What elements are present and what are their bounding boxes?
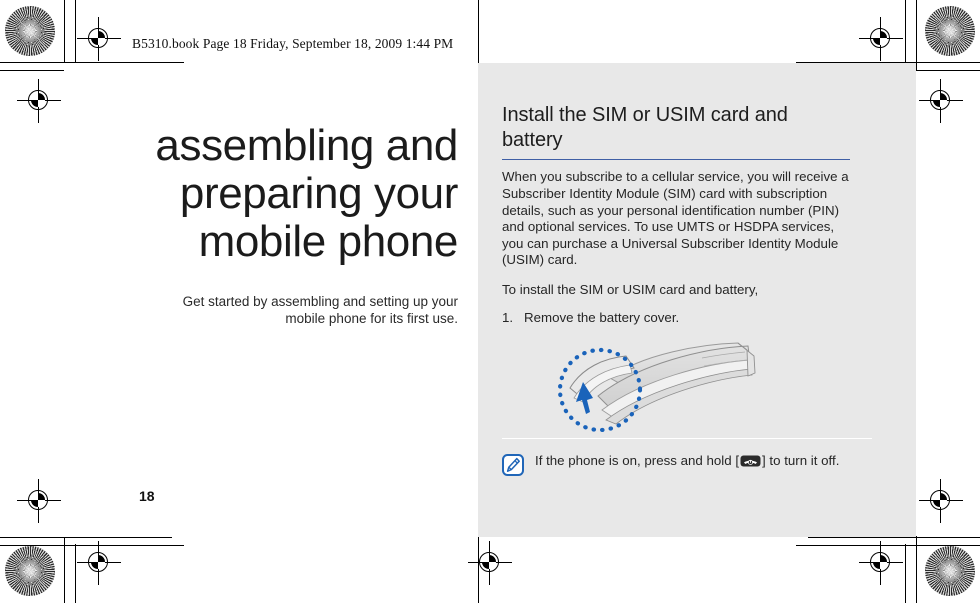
trim-line — [0, 545, 184, 546]
chapter-title-line-1: assembling and — [98, 122, 458, 170]
trim-line — [0, 537, 172, 538]
registration-target-icon — [859, 541, 903, 585]
registration-target-icon — [77, 541, 121, 585]
lead-in-paragraph: To install the SIM or USIM card and batt… — [502, 282, 850, 299]
trim-line — [75, 544, 76, 603]
note-text-after: ] to turn it off. — [762, 453, 839, 468]
registration-target-icon — [919, 479, 963, 523]
registration-target-icon — [919, 79, 963, 123]
note-box: If the phone is on, press and hold [] to… — [502, 438, 872, 476]
section-title: Install the SIM or USIM card and battery — [502, 103, 850, 153]
print-rosette-icon — [925, 6, 975, 56]
note-text: If the phone is on, press and hold [] to… — [535, 453, 839, 476]
note-text-before: If the phone is on, press and hold [ — [535, 453, 739, 468]
print-rosette-icon — [5, 6, 55, 56]
chapter-subtitle: Get started by assembling and setting up… — [168, 293, 458, 327]
section-rule — [502, 159, 850, 160]
power-end-key-icon — [740, 455, 761, 467]
registration-target-icon — [859, 17, 903, 61]
intro-paragraph: When you subscribe to a cellular service… — [502, 169, 850, 269]
step-text: Remove the battery cover. — [524, 310, 679, 327]
note-pen-icon — [502, 454, 524, 476]
trim-line — [75, 0, 76, 63]
step-number: 1. — [502, 310, 524, 327]
chapter-title-line-3: mobile phone — [98, 218, 458, 266]
registration-target-icon — [17, 79, 61, 123]
registration-target-icon — [468, 541, 512, 585]
print-rosette-icon — [5, 546, 55, 596]
print-rosette-icon — [925, 546, 975, 596]
step-item: 1. Remove the battery cover. — [502, 310, 850, 327]
phone-battery-cover-illustration — [502, 338, 850, 442]
chapter-title-line-2: preparing your — [98, 170, 458, 218]
trim-line — [64, 536, 65, 603]
trim-line — [905, 544, 906, 603]
trim-line — [478, 537, 479, 603]
registration-target-icon — [17, 479, 61, 523]
trim-line — [808, 537, 980, 538]
left-page: assembling and preparing your mobile pho… — [64, 63, 478, 537]
trim-line — [916, 536, 917, 603]
page-number: 18 — [139, 488, 155, 504]
right-page: Install the SIM or USIM card and battery… — [478, 63, 916, 537]
running-head: B5310.book Page 18 Friday, September 18,… — [132, 36, 453, 52]
trim-line — [478, 0, 479, 63]
chapter-title: assembling and preparing your mobile pho… — [98, 122, 458, 266]
registration-target-icon — [77, 17, 121, 61]
trim-line — [796, 545, 980, 546]
right-page-content: Install the SIM or USIM card and battery… — [502, 103, 850, 442]
trim-line — [905, 0, 906, 63]
trim-line — [916, 0, 917, 71]
trim-line — [64, 0, 65, 71]
